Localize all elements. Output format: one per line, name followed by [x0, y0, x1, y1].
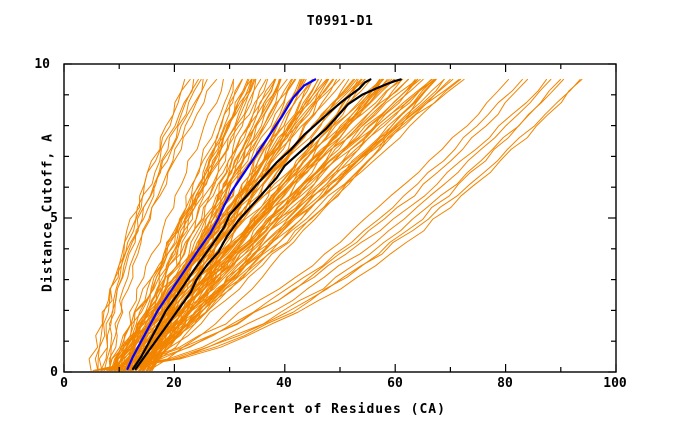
ensemble-curves [89, 79, 582, 370]
chart-figure: T0991-D1 Percent of Residues (CA) Distan… [0, 0, 680, 440]
plot-canvas [0, 0, 680, 440]
